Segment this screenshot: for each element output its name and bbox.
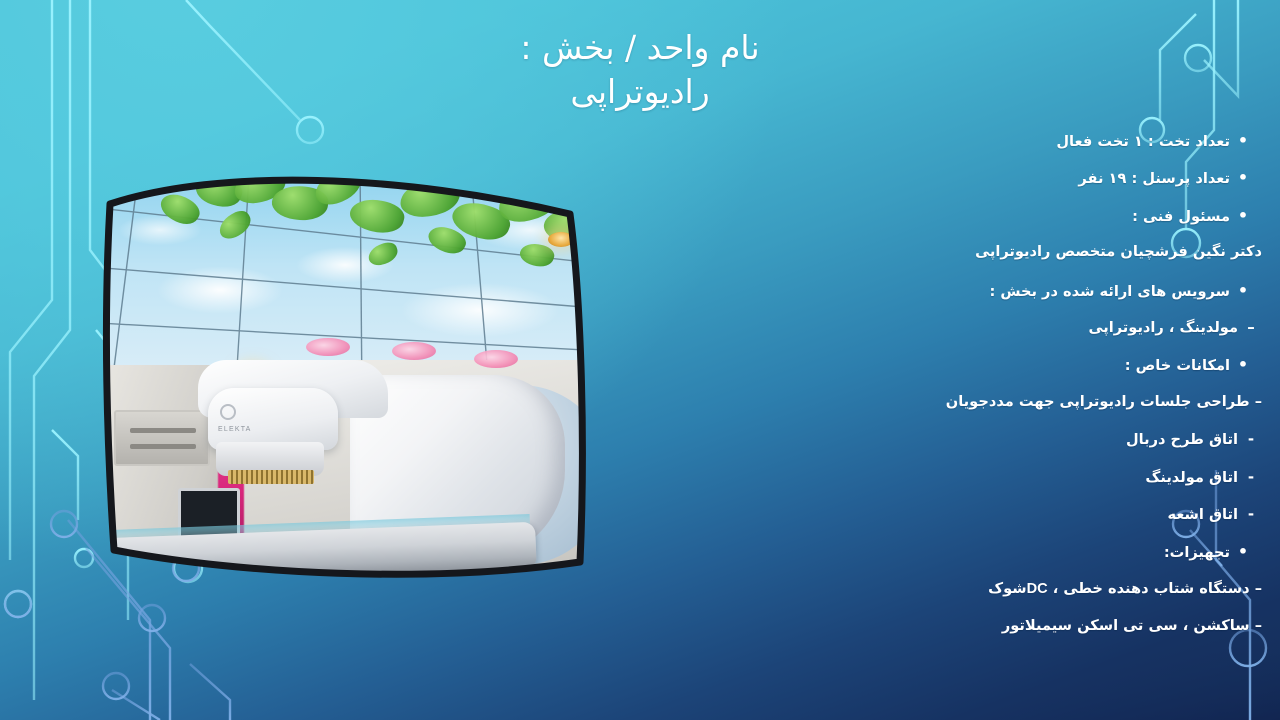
- bullet-row: •تعداد تخت : ۱ تخت فعال: [862, 133, 1262, 170]
- bullet-text: اتاق اشعه: [862, 508, 1240, 523]
- bullet-text: – طراحی جلسات رادیوتراپی جهت مددجویان: [862, 395, 1262, 410]
- bullet-row: •امکانات خاص :: [862, 357, 1262, 394]
- bullet-row: •مسئول فنی :: [862, 208, 1262, 245]
- bullet-dot-icon: •: [1232, 170, 1254, 186]
- bullet-list: •تعداد تخت : ۱ تخت فعال•تعداد پرسنل : ۱۹…: [862, 133, 1262, 656]
- bullet-dash-icon: -: [1240, 470, 1262, 485]
- bullet-row: –مولدینگ ، رادیوتراپی: [862, 320, 1262, 357]
- bullet-dot-icon: •: [1232, 357, 1254, 373]
- bullet-row: •تجهیزات:: [862, 544, 1262, 581]
- bullet-text: تعداد تخت : ۱ تخت فعال: [862, 135, 1232, 150]
- bullet-row: -اتاق طرح دربال: [862, 432, 1262, 469]
- bullet-text: امکانات خاص :: [862, 359, 1232, 374]
- bullet-text: دکتر نگین فرشچیان متخصص رادیوتراپی: [862, 245, 1262, 260]
- bullet-row: – طراحی جلسات رادیوتراپی جهت مددجویان: [862, 395, 1262, 432]
- bullet-dot-icon: •: [1232, 283, 1254, 299]
- title-line-2: رادیوتراپی: [0, 70, 1280, 114]
- slide-canvas: نام واحد / بخش : رادیوتراپی •تعداد تخت :…: [0, 0, 1280, 720]
- bullet-row: •تعداد پرسنل : ۱۹ نفر: [862, 170, 1262, 207]
- bullet-text: مسئول فنی :: [862, 210, 1232, 225]
- bullet-row: -اتاق مولدینگ: [862, 470, 1262, 507]
- bullet-text: اتاق مولدینگ: [862, 471, 1240, 486]
- bullet-row: دکتر نگین فرشچیان متخصص رادیوتراپی: [862, 245, 1262, 282]
- bullet-row: – دستگاه شتاب دهنده خطی ، DCشوک: [862, 582, 1262, 619]
- radiotherapy-room-photo: ELEKTA: [100, 170, 600, 590]
- bullet-dash-icon: -: [1240, 432, 1262, 447]
- bullet-dot-icon: •: [1232, 544, 1254, 560]
- bullet-dash-icon: –: [1240, 320, 1262, 335]
- bullet-text: سرویس های ارائه شده در بخش :: [862, 285, 1232, 300]
- bullet-row: -اتاق اشعه: [862, 507, 1262, 544]
- bullet-dot-icon: •: [1232, 208, 1254, 224]
- bullet-text: – ساکشن ، سی تی اسکن سیمیلاتور: [862, 619, 1262, 634]
- bullet-dot-icon: •: [1232, 133, 1254, 149]
- title-line-1: نام واحد / بخش :: [0, 26, 1280, 70]
- bullet-text: تعداد پرسنل : ۱۹ نفر: [862, 172, 1232, 187]
- page-title: نام واحد / بخش : رادیوتراپی: [0, 26, 1280, 113]
- bullet-text: اتاق طرح دربال: [862, 433, 1240, 448]
- bullet-text: – دستگاه شتاب دهنده خطی ، DCشوک: [862, 582, 1262, 597]
- bullet-text: مولدینگ ، رادیوتراپی: [862, 321, 1240, 336]
- photo-curved-frame: [100, 170, 600, 590]
- bullet-row: •سرویس های ارائه شده در بخش :: [862, 283, 1262, 320]
- bullet-text: تجهیزات:: [862, 546, 1232, 561]
- bullet-dash-icon: -: [1240, 507, 1262, 522]
- bullet-row: – ساکشن ، سی تی اسکن سیمیلاتور: [862, 619, 1262, 656]
